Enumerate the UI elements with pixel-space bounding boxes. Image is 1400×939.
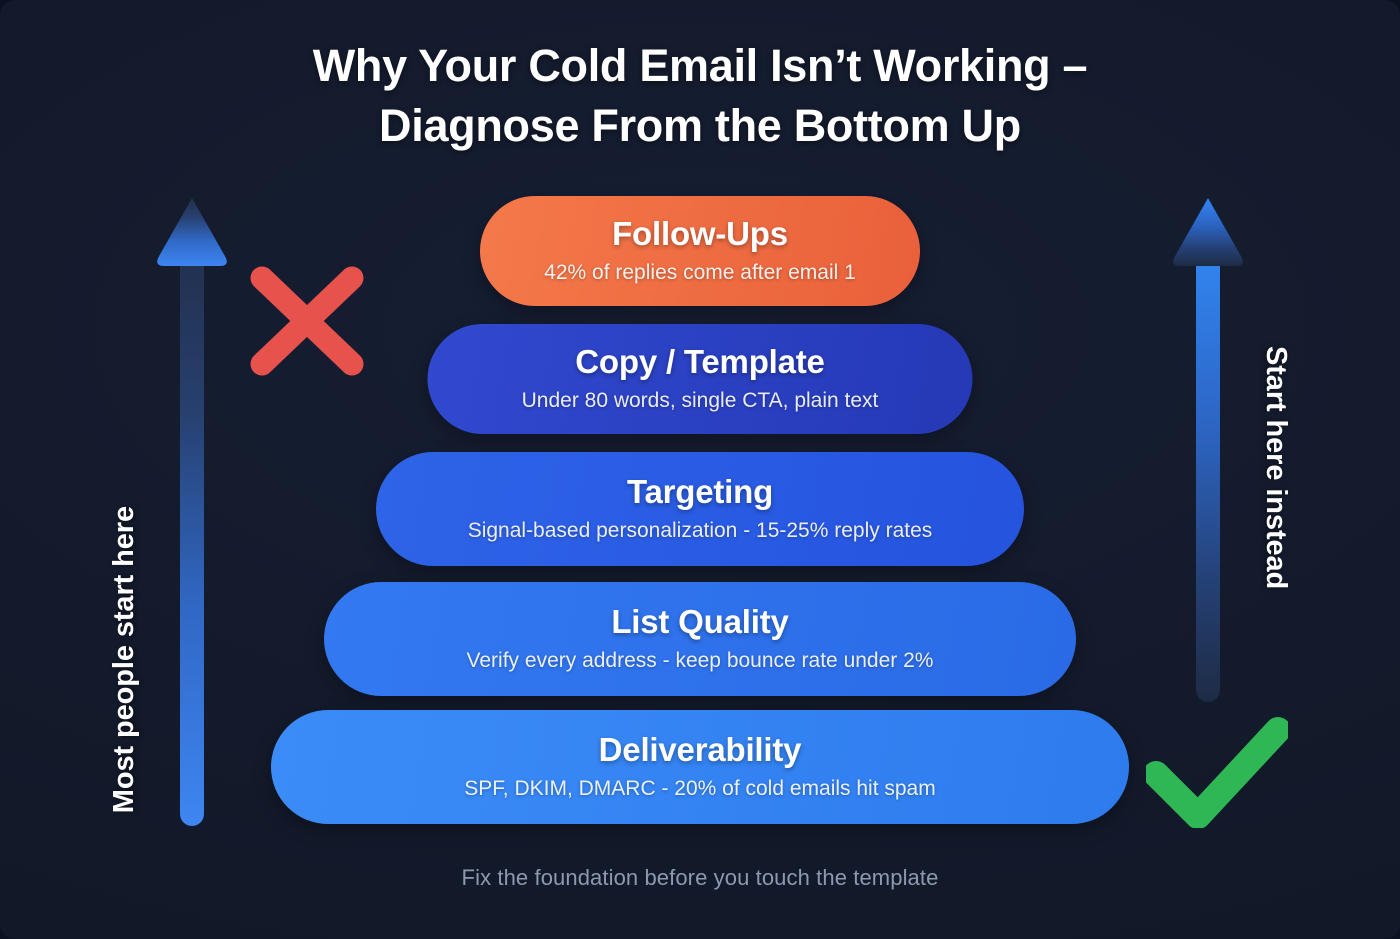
title-line-1: Why Your Cold Email Isn’t Working – [0, 36, 1400, 96]
infographic-canvas: Why Your Cold Email Isn’t Working – Diag… [0, 0, 1400, 939]
level-title: Follow-Ups [612, 216, 788, 253]
title-line-2: Diagnose From the Bottom Up [0, 96, 1400, 156]
level-subtitle: Under 80 words, single CTA, plain text [522, 388, 879, 413]
level-subtitle: 42% of replies come after email 1 [544, 260, 856, 285]
level-title: Copy / Template [575, 344, 824, 381]
pyramid-level-deliverability[interactable]: Deliverability SPF, DKIM, DMARC - 20% of… [271, 710, 1129, 824]
level-subtitle: Verify every address - keep bounce rate … [467, 648, 934, 673]
level-subtitle: Signal-based personalization - 15-25% re… [468, 518, 933, 543]
level-title: Targeting [627, 474, 773, 511]
pyramid-stack: Follow-Ups 42% of replies come after ema… [0, 196, 1400, 832]
level-title: List Quality [611, 604, 788, 641]
footer-caption: Fix the foundation before you touch the … [0, 865, 1400, 891]
pyramid-level-follow-ups[interactable]: Follow-Ups 42% of replies come after ema… [480, 196, 920, 306]
level-title: Deliverability [599, 732, 802, 769]
pyramid-level-list-quality[interactable]: List Quality Verify every address - keep… [324, 582, 1076, 696]
pyramid-level-targeting[interactable]: Targeting Signal-based personalization -… [376, 452, 1024, 566]
pyramid-level-copy-template[interactable]: Copy / Template Under 80 words, single C… [428, 324, 973, 434]
level-subtitle: SPF, DKIM, DMARC - 20% of cold emails hi… [464, 776, 935, 801]
page-title: Why Your Cold Email Isn’t Working – Diag… [0, 36, 1400, 156]
